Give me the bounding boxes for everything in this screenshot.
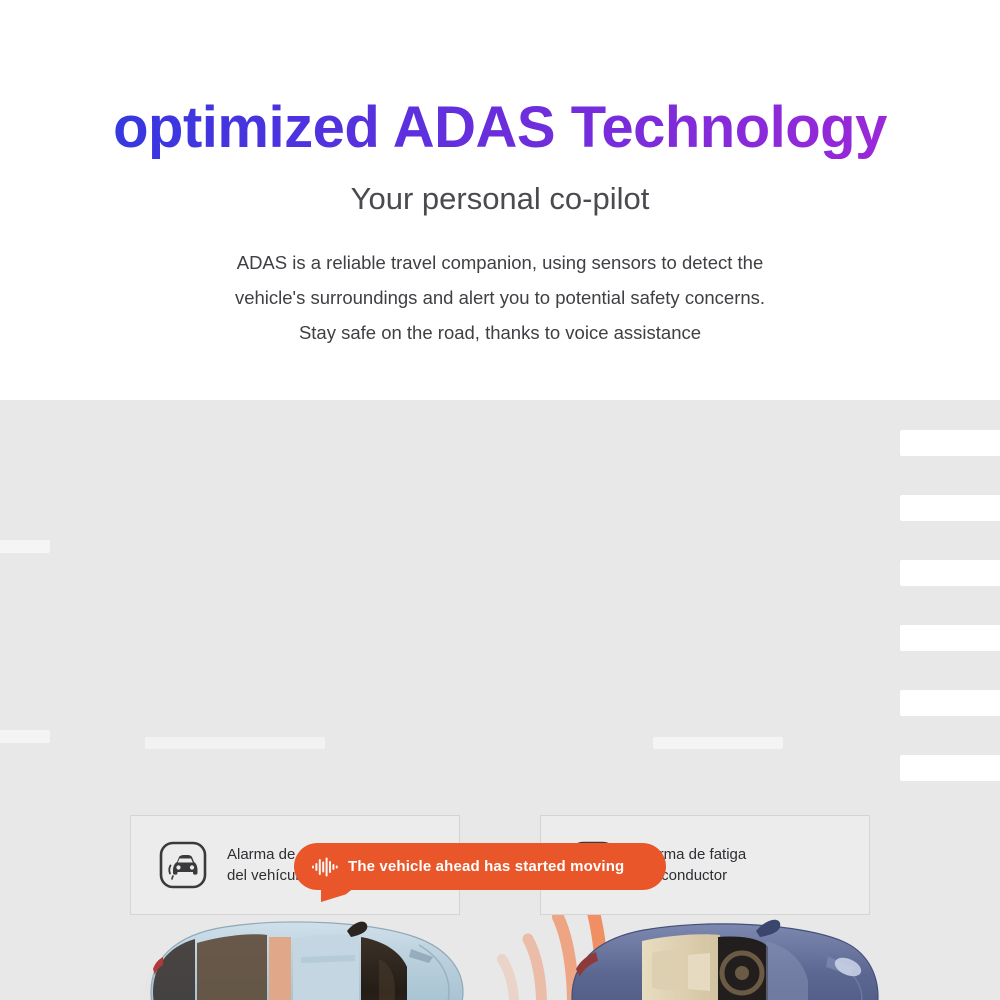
- road-dash: [900, 755, 1000, 781]
- road-dash: [145, 737, 325, 749]
- road-dash: [0, 540, 50, 553]
- road-dash: [900, 625, 1000, 651]
- lead-vehicle-image: [133, 905, 468, 1000]
- description-line-2: vehicle's surroundings and alert you to …: [150, 280, 850, 315]
- road-dash: [0, 730, 50, 743]
- alert-bubble-forward-vehicle[interactable]: The vehicle ahead has started moving: [294, 843, 666, 890]
- page-title: optimized ADAS Technology: [113, 98, 887, 159]
- page-subtitle: Your personal co-pilot: [0, 181, 1000, 217]
- page-description: ADAS is a reliable travel companion, usi…: [150, 245, 850, 350]
- road-dash: [653, 737, 783, 749]
- hero-section: optimized ADAS Technology Your personal …: [0, 0, 1000, 400]
- description-line-1: ADAS is a reliable travel companion, usi…: [150, 245, 850, 280]
- car-front-alarm-icon: [159, 841, 207, 889]
- alert-text-forward-vehicle: The vehicle ahead has started moving: [348, 858, 624, 875]
- road-dash: [900, 560, 1000, 586]
- road-dash: [900, 495, 1000, 521]
- road-dash: [900, 690, 1000, 716]
- voice-waveform-icon: [312, 857, 338, 877]
- ego-vehicle-image: [560, 905, 880, 1000]
- description-line-3: Stay safe on the road, thanks to voice a…: [150, 315, 850, 350]
- road-dash: [900, 430, 1000, 456]
